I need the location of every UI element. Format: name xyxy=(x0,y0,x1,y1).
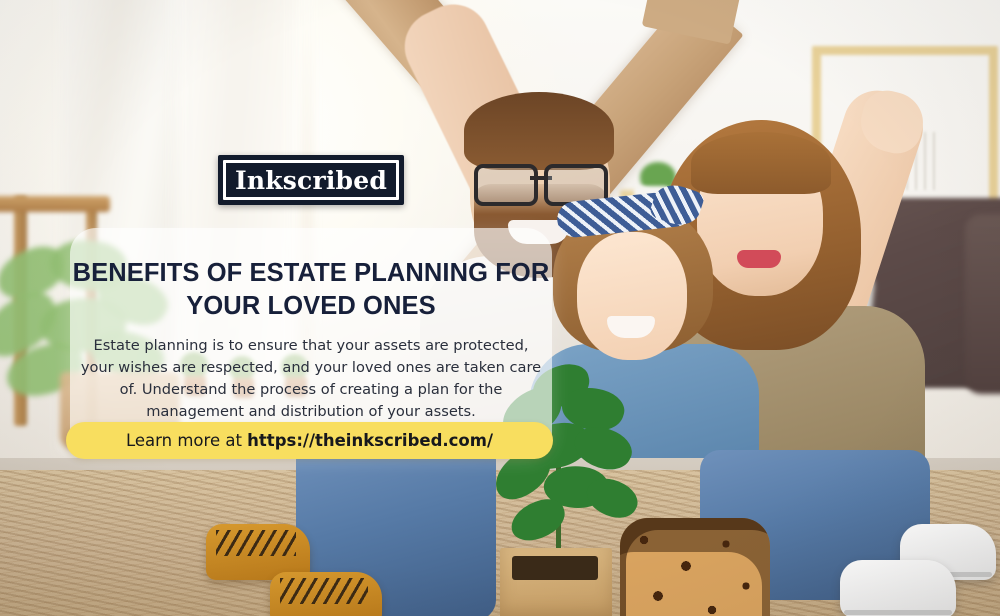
brand-logo[interactable]: Inkscribed xyxy=(218,155,404,205)
cta-url: https://theinkscribed.com/ xyxy=(247,431,493,450)
logo-text: Inkscribed xyxy=(235,168,387,193)
banner-stage: Inkscribed BENEFITS OF ESTATE PLANNING F… xyxy=(0,0,1000,616)
body-copy: Estate planning is to ensure that your a… xyxy=(76,335,546,424)
learn-more-button[interactable]: Learn more at https://theinkscribed.com/ xyxy=(66,422,553,459)
cta-prefix: Learn more at xyxy=(126,431,247,450)
page-title: BENEFITS OF ESTATE PLANNING FOR YOUR LOV… xyxy=(70,257,552,322)
cta-label: Learn more at https://theinkscribed.com/ xyxy=(126,431,493,450)
